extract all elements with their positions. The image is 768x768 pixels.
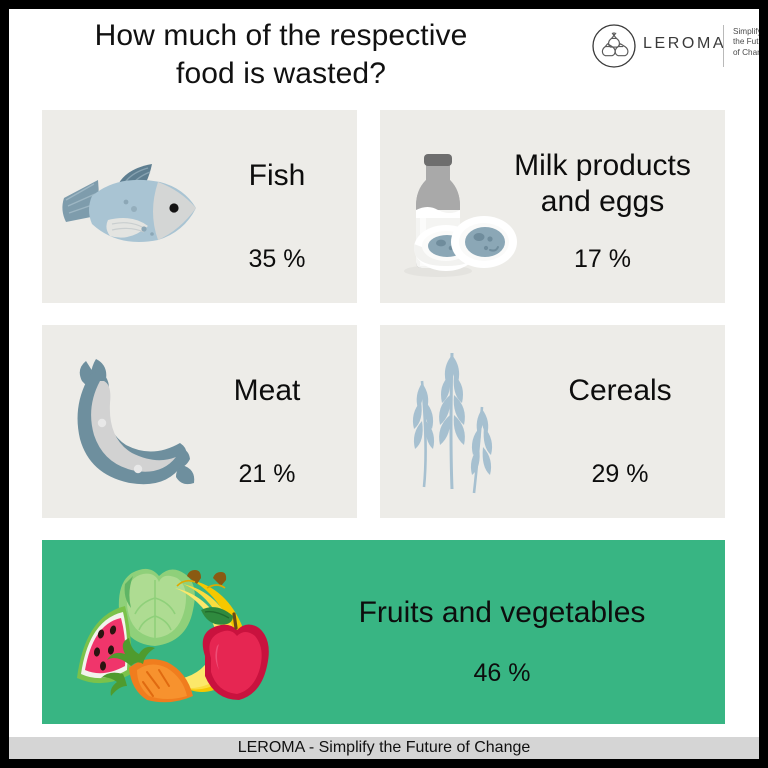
page-title-line-2: food is wasted? (31, 55, 531, 93)
card-milk-percent: 17 % (490, 244, 715, 274)
fruits-and-vegetables-icon (67, 558, 277, 710)
card-fruits-and-vegetables[interactable]: Fruits and vegetables 46 % (42, 540, 725, 724)
logo-divider (723, 25, 724, 67)
brand-logo: LEROMA Simplify the Future of Change (583, 17, 749, 75)
logo-tagline: Simplify the Future of Change (733, 27, 759, 58)
footer-text: LEROMA - Simplify the Future of Change (9, 737, 759, 759)
card-fish-percent: 35 % (207, 244, 347, 274)
card-fish[interactable]: Fish 35 % (42, 110, 357, 303)
card-milk-label-line-1: Milk products (514, 149, 691, 182)
logo-tagline-line-3: of Change (733, 48, 759, 58)
card-fruits-label: Fruits and vegetables (292, 595, 712, 631)
logo-wordmark: LEROMA (643, 35, 726, 53)
sausage-icon (56, 347, 206, 497)
header: How much of the respective food is waste… (9, 9, 759, 105)
card-milk-label: Milk products and eggs (490, 148, 715, 220)
card-meat-label: Meat (192, 373, 342, 409)
card-meat-percent: 21 % (192, 459, 342, 489)
logo-tagline-line-1: Simplify (733, 27, 759, 37)
card-meat[interactable]: Meat 21 % (42, 325, 357, 518)
fish-icon (56, 150, 216, 270)
card-cereals[interactable]: Cereals 29 % (380, 325, 725, 518)
card-milk-label-line-2: and eggs (541, 185, 664, 218)
card-cereals-percent: 29 % (520, 459, 720, 489)
wheat-stalks-icon (394, 337, 519, 502)
page-title-line-1: How much of the respective (31, 17, 531, 55)
card-fish-label: Fish (207, 158, 347, 194)
card-cereals-label: Cereals (520, 373, 720, 409)
card-fruits-percent: 46 % (292, 658, 712, 688)
footer-bar: LEROMA - Simplify the Future of Change (9, 737, 759, 759)
logo-tagline-line-2: the Future (733, 37, 759, 47)
three-sacks-in-circle-icon (591, 23, 637, 69)
card-milk[interactable]: Milk products and eggs 17 % (380, 110, 725, 303)
infographic-poster: How much of the respective food is waste… (9, 9, 759, 759)
page-title: How much of the respective food is waste… (31, 17, 531, 93)
